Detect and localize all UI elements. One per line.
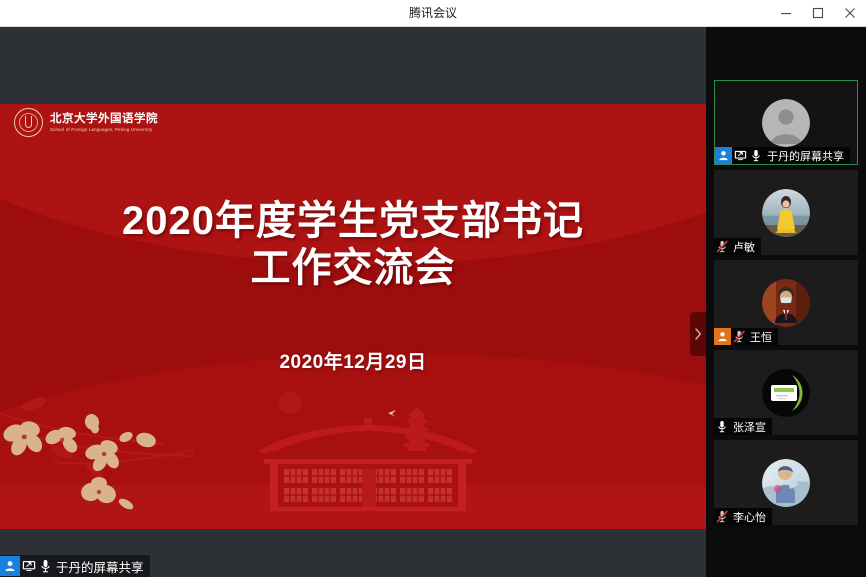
logo-english-name: School of Foreign Languages, Peking Univ… [50,127,158,132]
presentation-slide [0,104,706,529]
avatar-3 [762,279,810,327]
microphone-muted-badge-5 [714,508,730,525]
minimize-icon [780,7,792,19]
maximize-icon [812,7,824,19]
window-title: 腾讯会议 [0,0,866,26]
pku-seal-icon [14,108,43,137]
participant-tile-3[interactable]: 王恒 [714,260,858,345]
microphone-muted-badge-3 [731,328,747,345]
photo-avatar-icon [762,459,810,507]
microphone-muted-icon [716,240,729,253]
close-button[interactable] [834,0,866,26]
person-badge-1 [715,147,732,164]
person-icon [4,560,16,572]
microphone-muted-icon [733,330,746,343]
meeting-window: 腾讯会议 [0,0,866,577]
microphone-badge-1 [748,147,764,164]
participant-name-2: 卢敏 [730,239,755,255]
screen-share-icon [734,150,747,161]
default-person-avatar-icon [762,99,810,147]
sun-icon [279,392,301,414]
participant-name-4: 张泽宣 [730,419,766,435]
logo-text: 北京大学外国语学院 School of Foreign Languages, P… [50,113,158,132]
chevron-right-icon [694,328,702,340]
logo-chinese-name: 北京大学外国语学院 [50,113,158,125]
participant-label-1: 于丹的屏幕共享 [715,147,850,164]
participant-tile-1[interactable]: 于丹的屏幕共享 [714,80,858,165]
person-icon [718,150,729,161]
close-icon [844,7,856,19]
main-hall [258,417,478,511]
presenter-name: 于丹的屏幕共享 [54,557,144,576]
screen-share-badge [20,556,37,576]
slide-headline-line2: 工作交流会 [0,245,706,292]
photo-avatar-icon [762,279,810,327]
title-bar: 腾讯会议 [0,0,866,27]
person-badge-3 [714,328,731,345]
slide-headline-line1: 2020年度学生党支部书记 [0,198,706,245]
person-badge [0,556,20,576]
participant-name-5: 李心怡 [730,509,766,525]
participant-tile-4[interactable]: 张泽宣 [714,350,858,435]
avatar-1 [762,99,810,147]
maximize-button[interactable] [802,0,834,26]
participant-label-2: 卢敏 [714,238,761,255]
slide-date: 2020年12月29日 [0,347,706,374]
palace-building-illustration [240,389,500,529]
bird-icon [388,410,396,417]
participant-label-4: 张泽宣 [714,418,772,435]
minimize-button[interactable] [770,0,802,26]
avatar-4 [762,369,810,417]
institution-logo: 北京大学外国语学院 School of Foreign Languages, P… [14,108,158,137]
microphone-icon [751,149,761,162]
participant-name-1: 于丹的屏幕共享 [764,148,844,164]
presenter-name-strip: 于丹的屏幕共享 [0,555,150,577]
microphone-icon [40,559,51,573]
microphone-badge-4 [714,418,730,435]
person-icon [717,331,728,342]
photo-avatar-icon [762,369,810,417]
slide-headline: 2020年度学生党支部书记 工作交流会 [0,198,706,292]
letterbox-top [0,27,706,104]
participant-name-3: 王恒 [747,329,772,345]
avatar-2 [762,189,810,237]
participant-tile-5[interactable]: 李心怡 [714,440,858,525]
participant-rail[interactable]: 于丹的屏幕共享 [706,27,866,577]
microphone-icon [717,420,727,433]
participant-label-5: 李心怡 [714,508,772,525]
microphone-badge [37,556,54,576]
screen-share-icon [22,560,36,572]
microphone-muted-badge-2 [714,238,730,255]
participant-tile-2[interactable]: 卢敏 [714,170,858,255]
participant-label-3: 王恒 [714,328,778,345]
photo-avatar-icon [762,189,810,237]
avatar-5 [762,459,810,507]
microphone-muted-icon [716,510,729,523]
screen-share-badge-1 [732,147,748,164]
flower-branch-decoration [0,392,194,522]
